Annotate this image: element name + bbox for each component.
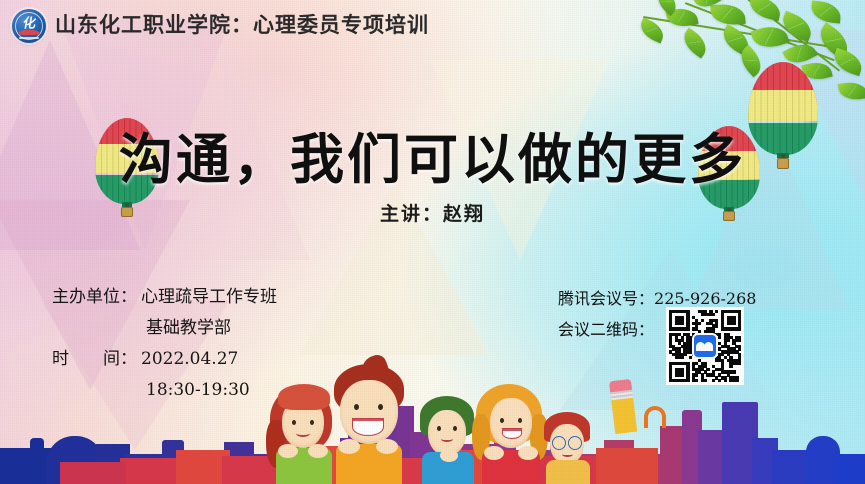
orange-arch-icon — [644, 406, 666, 428]
time-value-date: 2022.04.27 — [141, 344, 238, 375]
child-figure — [326, 364, 412, 484]
meeting-id-value: 225-926-268 — [654, 289, 756, 308]
organizer-row-2: 基础教学部 — [52, 313, 277, 344]
university-emblem-icon: 化 — [12, 9, 46, 43]
time-label: 时 间： — [52, 344, 137, 375]
organizer-value-2: 基础教学部 — [146, 313, 231, 344]
logo-mark: 化 — [22, 17, 36, 30]
main-title: 沟通，我们可以做的更多 — [0, 128, 865, 190]
child-figure — [474, 380, 548, 484]
child-figure — [416, 392, 480, 484]
poster-canvas: 化 山东化工职业学院：心理委员专项培训 沟通，我们可以做的更多 主讲：赵翔 主办… — [0, 0, 865, 484]
speaker-name: 主讲：赵翔 — [0, 199, 865, 226]
organizer-label: 主办单位： — [52, 282, 137, 313]
cartoon-children-group-icon — [268, 360, 588, 484]
organizer-value-1: 心理疏导工作专班 — [141, 282, 277, 313]
qr-label: 会议二维码： — [558, 320, 654, 339]
header-bar: 化 山东化工职业学院：心理委员专项培训 — [0, 0, 865, 52]
time-row-1: 时 间：2022.04.27 — [52, 344, 277, 375]
child-figure — [542, 410, 594, 484]
meeting-id-label: 腾讯会议号： — [558, 289, 654, 308]
page-title: 山东化工职业学院：心理委员专项培训 — [55, 11, 429, 41]
tencent-meeting-logo-icon — [694, 335, 716, 357]
organizer-row-1: 主办单位：心理疏导工作专班 — [52, 282, 277, 313]
